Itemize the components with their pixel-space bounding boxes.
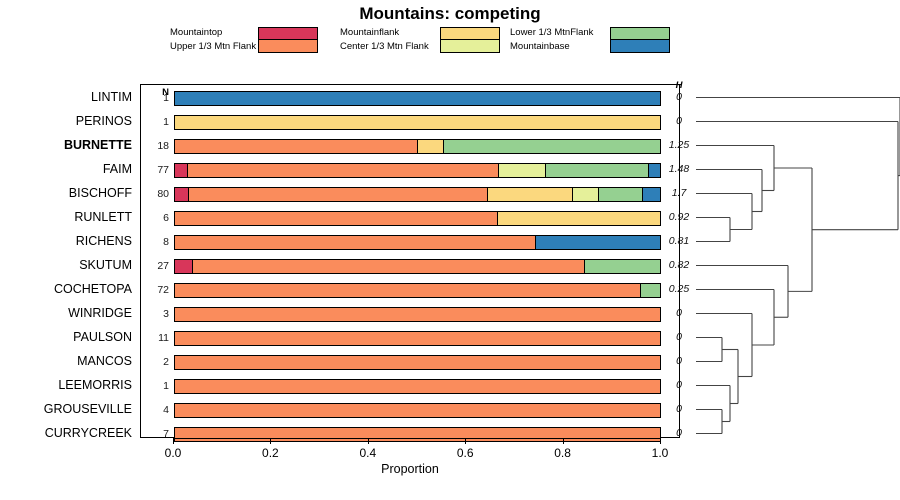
dendrogram-tree [694, 84, 900, 438]
bar-segment-upper_third[interactable] [175, 332, 660, 345]
bar-segment-lower_third[interactable] [546, 164, 648, 177]
x-tick-label: 0.8 [533, 446, 593, 460]
legend-label-upper_third: Upper 1/3 Mtn Flank [170, 40, 256, 54]
legend-swatches [258, 27, 318, 53]
h-value: 0.25 [662, 282, 696, 297]
table-row: 27 [141, 259, 679, 274]
stacked-bar[interactable] [174, 403, 661, 418]
stacked-bar[interactable] [174, 235, 661, 250]
row-label-grouseville: GROUSEVILLE [0, 402, 132, 417]
row-label-leemorris: LEEMORRIS [0, 378, 132, 393]
n-value: 27 [141, 259, 169, 274]
bar-segment-upper_third[interactable] [175, 284, 641, 297]
legend-swatch-mountainbase[interactable] [610, 40, 670, 53]
h-value: 1.25 [662, 138, 696, 153]
bar-segment-mountainflank[interactable] [498, 212, 660, 225]
row-label-bischoff: BISCHOFF [0, 186, 132, 201]
bar-segment-upper_third[interactable] [188, 164, 499, 177]
x-axis-title: Proportion [140, 462, 680, 476]
h-value: 0 [662, 330, 696, 345]
stacked-bar[interactable] [174, 307, 661, 322]
stacked-bar[interactable] [174, 283, 661, 298]
x-tick [368, 438, 369, 444]
legend-swatches [610, 27, 670, 53]
x-tick-label: 1.0 [630, 446, 690, 460]
stacked-bar[interactable] [174, 211, 661, 226]
n-value: 72 [141, 283, 169, 298]
bar-segment-mountaintop[interactable] [175, 188, 189, 201]
row-label-perinos: PERINOS [0, 114, 132, 129]
bar-segment-mountainbase[interactable] [643, 188, 660, 201]
h-value: 1.7 [662, 186, 696, 201]
bar-segment-upper_third[interactable] [175, 380, 660, 393]
bar-segment-center_third[interactable] [499, 164, 547, 177]
stacked-bar[interactable] [174, 187, 661, 202]
h-value: 0.82 [662, 258, 696, 273]
n-value: 3 [141, 307, 169, 322]
bar-segment-upper_third[interactable] [189, 188, 488, 201]
bar-segment-upper_third[interactable] [175, 236, 536, 249]
stacked-bar[interactable] [174, 163, 661, 178]
legend-labels: MountaintopUpper 1/3 Mtn Flank [170, 26, 256, 54]
n-value: 2 [141, 355, 169, 370]
row-label-currycreek: CURRYCREEK [0, 426, 132, 441]
row-label-faim: FAIM [0, 162, 132, 177]
row-label-burnette: BURNETTE [0, 138, 132, 153]
x-tick-label: 0.6 [435, 446, 495, 460]
bar-segment-upper_third[interactable] [193, 260, 585, 273]
bar-segment-mountainflank[interactable] [418, 140, 445, 153]
table-row: 1 [141, 379, 679, 394]
row-label-cochetopa: COCHETOPA [0, 282, 132, 297]
n-value: 11 [141, 331, 169, 346]
row-label-skutum: SKUTUM [0, 258, 132, 273]
bar-segment-lower_third[interactable] [599, 188, 643, 201]
legend-swatch-mountainflank[interactable] [440, 27, 500, 40]
table-row: 77 [141, 163, 679, 178]
h-value: 0 [662, 354, 696, 369]
n-value: 80 [141, 187, 169, 202]
bar-segment-mountainbase[interactable] [175, 92, 660, 105]
x-tick-label: 0.0 [143, 446, 203, 460]
dendrogram-panel [694, 84, 900, 438]
legend-swatch-upper_third[interactable] [258, 40, 318, 53]
n-value: 4 [141, 403, 169, 418]
x-tick [270, 438, 271, 444]
row-label-runlett: RUNLETT [0, 210, 132, 225]
n-value: 1 [141, 115, 169, 130]
bar-segment-mountaintop[interactable] [175, 260, 193, 273]
row-label-paulson: PAULSON [0, 330, 132, 345]
n-value: 6 [141, 211, 169, 226]
bar-segment-upper_third[interactable] [175, 356, 660, 369]
chart-root: Mountains: competing MountaintopUpper 1/… [0, 0, 900, 500]
legend: MountaintopUpper 1/3 Mtn FlankMountainfl… [170, 26, 670, 56]
page-title: Mountains: competing [0, 4, 900, 24]
stacked-bar[interactable] [174, 259, 661, 274]
n-value: 18 [141, 139, 169, 154]
n-value: 8 [141, 235, 169, 250]
h-value: 0.81 [662, 234, 696, 249]
h-value: 0 [662, 402, 696, 417]
legend-swatch-center_third[interactable] [440, 40, 500, 53]
row-label-mancos: MANCOS [0, 354, 132, 369]
legend-labels: MountainflankCenter 1/3 Mtn Flank [340, 26, 429, 54]
table-row: 1 [141, 115, 679, 130]
n-value: 1 [141, 379, 169, 394]
legend-swatches [440, 27, 500, 53]
table-row: 3 [141, 307, 679, 322]
stacked-bar[interactable] [174, 379, 661, 394]
h-value: 0 [662, 306, 696, 321]
x-tick [465, 438, 466, 444]
legend-label-lower_third: Lower 1/3 MtnFlank [510, 26, 593, 40]
legend-labels: Lower 1/3 MtnFlankMountainbase [510, 26, 593, 54]
bar-segment-mountainbase[interactable] [649, 164, 660, 177]
x-tick [173, 438, 174, 444]
legend-swatch-mountaintop[interactable] [258, 27, 318, 40]
legend-label-mountainflank: Mountainflank [340, 26, 429, 40]
bar-segment-mountaintop[interactable] [175, 164, 188, 177]
bar-segment-mountainbase[interactable] [536, 236, 660, 249]
row-label-richens: RICHENS [0, 234, 132, 249]
bar-segment-center_third[interactable] [573, 188, 600, 201]
x-tick [563, 438, 564, 444]
table-row: 6 [141, 211, 679, 226]
x-tick [660, 438, 661, 444]
x-tick-label: 0.4 [338, 446, 398, 460]
legend-label-mountaintop: Mountaintop [170, 26, 256, 40]
n-value: 1 [141, 91, 169, 106]
h-value: 0 [662, 90, 696, 105]
stacked-bar[interactable] [174, 91, 661, 106]
bar-plot-panel: N111877806827723112147 [140, 84, 680, 438]
h-value: 0 [662, 378, 696, 393]
table-row: 4 [141, 403, 679, 418]
table-row: 72 [141, 283, 679, 298]
bar-segment-mountainflank[interactable] [175, 116, 660, 129]
table-row: 2 [141, 355, 679, 370]
bar-segment-lower_third[interactable] [444, 140, 660, 153]
legend-swatch-lower_third[interactable] [610, 27, 670, 40]
stacked-bar[interactable] [174, 355, 661, 370]
legend-label-center_third: Center 1/3 Mtn Flank [340, 40, 429, 54]
row-label-lintim: LINTIM [0, 90, 132, 105]
table-row: 11 [141, 331, 679, 346]
table-row: 1 [141, 91, 679, 106]
bar-segment-upper_third[interactable] [175, 308, 660, 321]
stacked-bar[interactable] [174, 139, 661, 154]
h-value: 1.48 [662, 162, 696, 177]
h-value: 0 [662, 114, 696, 129]
bar-segment-upper_third[interactable] [175, 404, 660, 417]
stacked-bar[interactable] [174, 115, 661, 130]
x-tick-label: 0.2 [240, 446, 300, 460]
bar-segment-lower_third[interactable] [585, 260, 660, 273]
x-axis-line [173, 438, 661, 439]
table-row: 18 [141, 139, 679, 154]
n-value: 77 [141, 163, 169, 178]
h-value: 0.92 [662, 210, 696, 225]
legend-label-mountainbase: Mountainbase [510, 40, 593, 54]
row-label-winridge: WINRIDGE [0, 306, 132, 321]
stacked-bar[interactable] [174, 331, 661, 346]
table-row: 80 [141, 187, 679, 202]
table-row: 8 [141, 235, 679, 250]
bar-segment-mountainflank[interactable] [488, 188, 573, 201]
bar-segment-upper_third[interactable] [175, 140, 418, 153]
bar-segment-upper_third[interactable] [175, 212, 498, 225]
bar-segment-lower_third[interactable] [641, 284, 660, 297]
